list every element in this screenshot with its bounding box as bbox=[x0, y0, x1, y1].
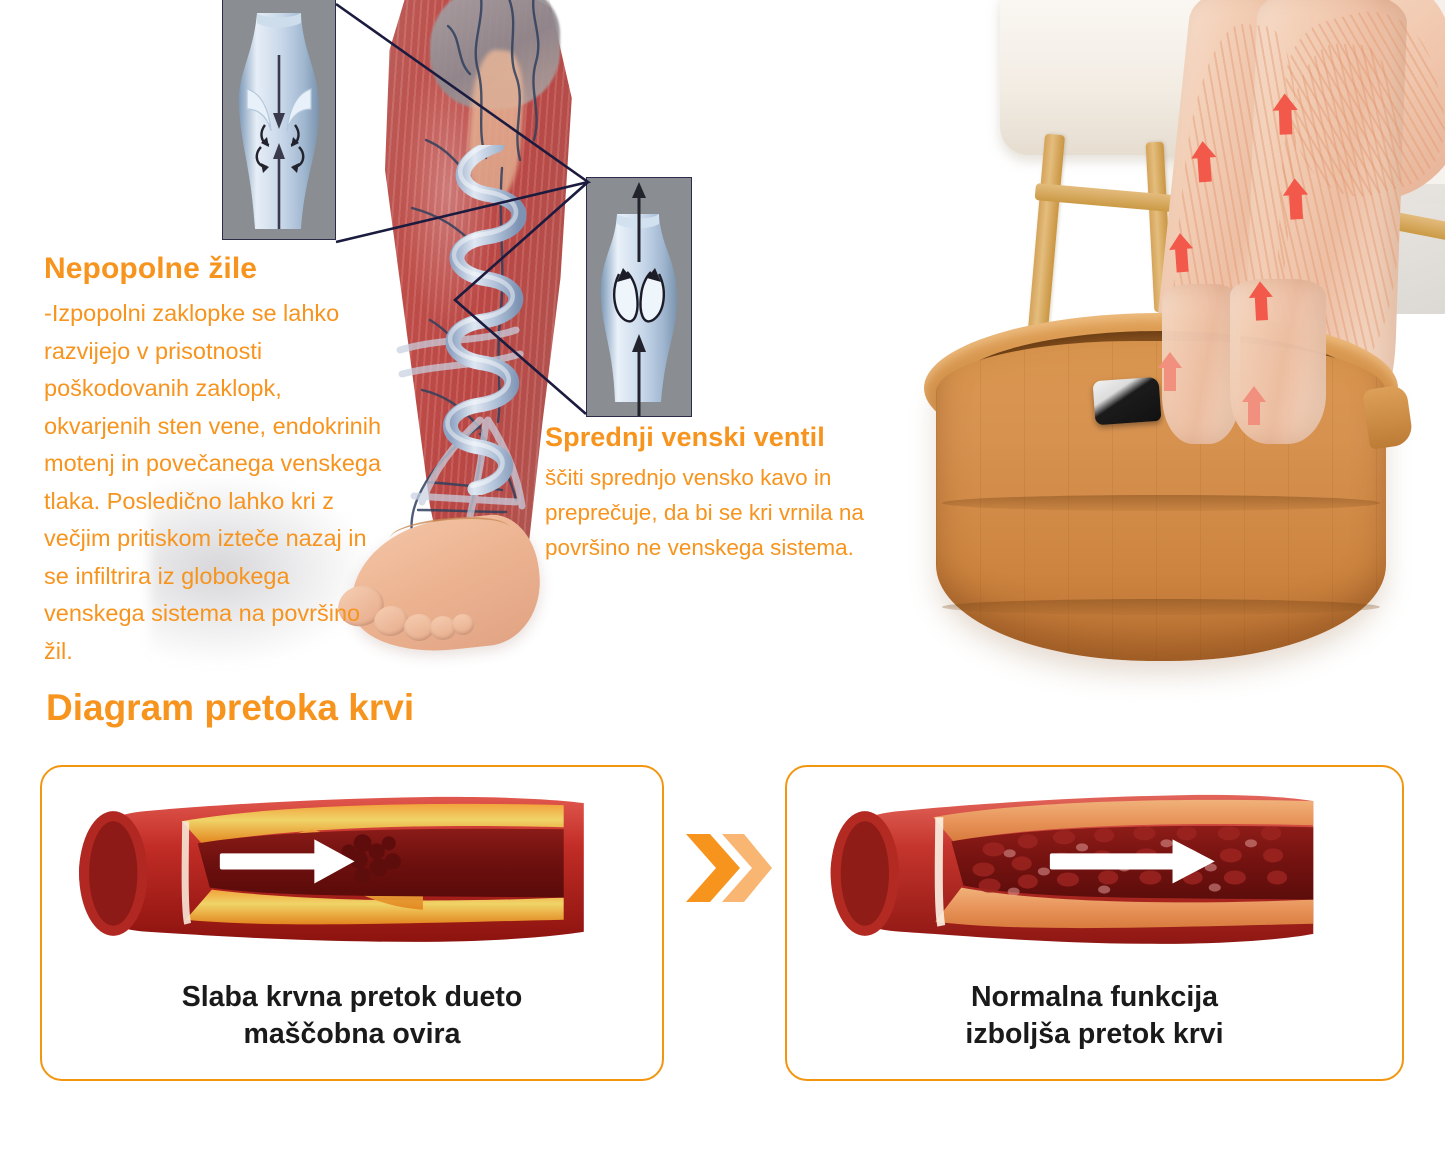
body-line: okvarjenih sten vene, endokrinih bbox=[44, 408, 424, 446]
blocked-artery-illustration bbox=[60, 781, 625, 967]
body-line: se infiltrira iz globokega bbox=[44, 558, 424, 596]
incompetent-veins-text-block: Nepopolne žile -Izpopolni zaklopke se la… bbox=[44, 249, 424, 670]
body-line: motenj in povečanega venskega bbox=[44, 445, 424, 483]
caption-line-1: Slaba krvna pretok dueto bbox=[182, 981, 523, 1013]
toe-5 bbox=[452, 614, 474, 635]
body-line: poškodovanih zaklopk, bbox=[44, 370, 424, 408]
healthy-artery-illustration bbox=[809, 781, 1339, 967]
caption-line-1: Normalna funkcija bbox=[971, 981, 1218, 1013]
anterior-valve-text-block: Sprednji venski ventil ščiti sprednjo ve… bbox=[545, 418, 937, 565]
body-line: razvijejo v prisotnosti bbox=[44, 333, 424, 371]
varicose-vein-coil bbox=[425, 145, 545, 495]
page-title: Diagram pretoka krvi bbox=[46, 687, 414, 729]
caption-line-2: izboljša pretok krvi bbox=[965, 1018, 1223, 1050]
panel-normal-blood-flow: Normalna funkcija izboljša pretok krvi bbox=[785, 765, 1404, 1081]
panel-caption-poor-flow: Slaba krvna pretok dueto maščobna ovira bbox=[42, 979, 662, 1053]
double-chevron-right-icon bbox=[682, 828, 772, 908]
infographic-canvas: Nepopolne žile -Izpopolni zaklopke se la… bbox=[0, 0, 1445, 1168]
anterior-valve-heading: Sprednji venski ventil bbox=[545, 418, 937, 456]
body-line: preprečuje, da bi se kri vrnila na bbox=[545, 495, 937, 530]
panel-poor-blood-flow: Slaba krvna pretok dueto maščobna ovira bbox=[40, 765, 664, 1081]
body-line: žil. bbox=[44, 633, 424, 671]
incompetent-veins-heading: Nepopolne žile bbox=[44, 249, 424, 289]
body-line: večjim pritiskom izteče nazaj in bbox=[44, 520, 424, 558]
foot-bath-photo bbox=[900, 0, 1445, 709]
caption-line-2: maščobna ovira bbox=[243, 1018, 460, 1050]
competent-valve-inset bbox=[586, 177, 692, 417]
panel-caption-normal-flow: Normalna funkcija izboljša pretok krvi bbox=[787, 979, 1402, 1053]
herb-bag bbox=[1093, 377, 1162, 425]
body-line: površino ne venskega sistema. bbox=[545, 530, 937, 565]
tub-hoop-lower bbox=[942, 599, 1380, 615]
incompetent-veins-body: -Izpopolni zaklopke se lahko razvijejo v… bbox=[44, 295, 424, 670]
anterior-valve-body: ščiti sprednjo vensko kavo in preprečuje… bbox=[545, 460, 937, 565]
competent-valve-diagram bbox=[587, 178, 691, 416]
incompetent-valve-inset bbox=[222, 0, 336, 240]
body-line: -Izpopolni zaklopke se lahko bbox=[44, 295, 424, 333]
body-line: ščiti sprednjo vensko kavo in bbox=[545, 460, 937, 495]
body-line: tlaka. Posledično lahko kri z bbox=[44, 483, 424, 521]
body-line: venskega sistema na površino bbox=[44, 595, 424, 633]
tub-hoop-upper bbox=[942, 495, 1380, 511]
tub-handle bbox=[1362, 384, 1414, 450]
incompetent-valve-diagram bbox=[223, 0, 335, 239]
shin-in-water-right bbox=[1230, 279, 1326, 444]
